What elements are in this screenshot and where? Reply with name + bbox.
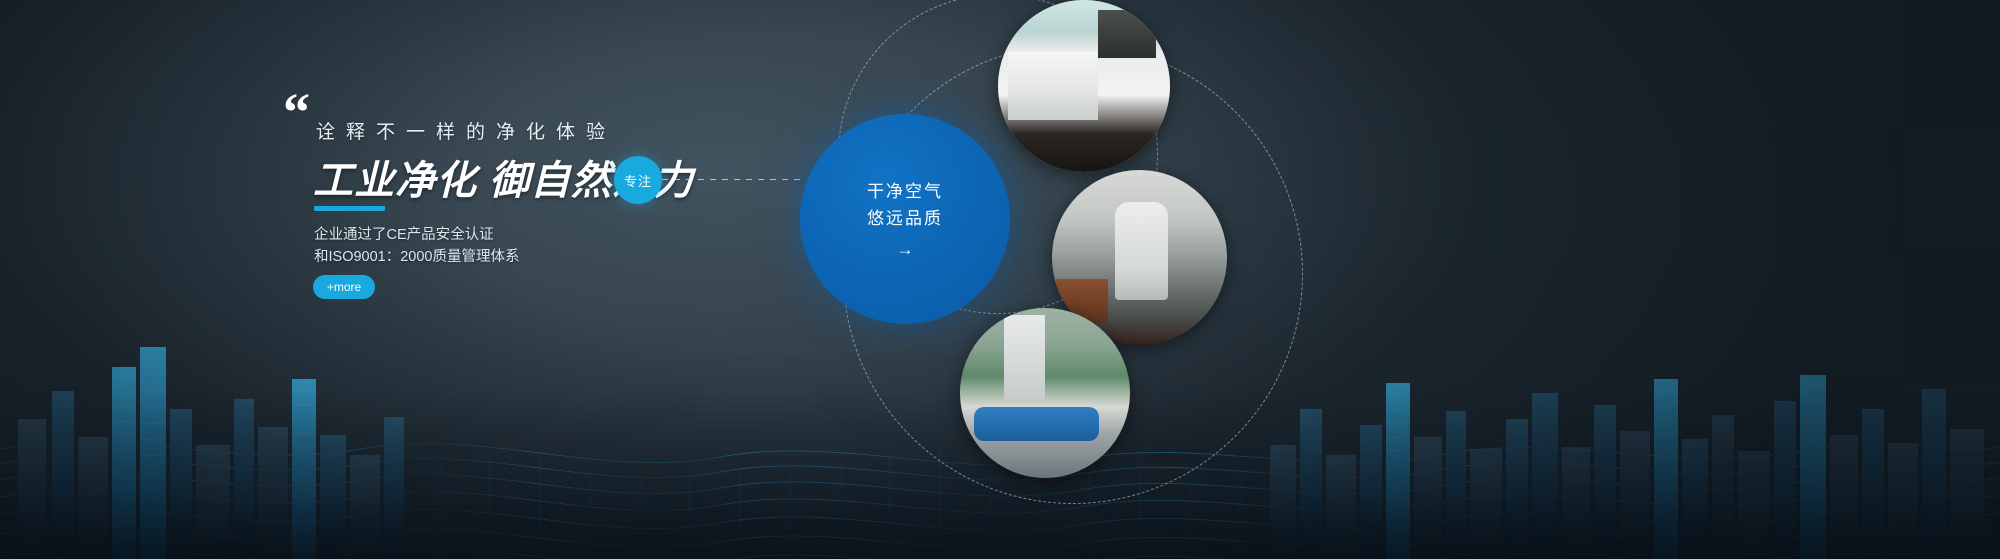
core-line-2: 悠远品质 [867, 205, 943, 232]
core-circle[interactable]: 干净空气 悠远品质 → [800, 114, 1010, 324]
pipeline-machinery-image [960, 308, 1130, 478]
dashed-connector-line [662, 179, 802, 180]
core-line-1: 干净空气 [867, 178, 943, 205]
hero-description: 企业通过了CE产品安全认证 和ISO9001：2000质量管理体系 [314, 224, 520, 268]
quote-mark-icon: “ [283, 92, 308, 132]
hero-banner: “ 诠释不一样的净化体验 工业净化 御自然之力 企业通过了CE产品安全认证 和I… [0, 0, 2000, 559]
hero-graphic: 专注 干净空气 悠远品质 → [590, 0, 1310, 559]
factory-interior-photo[interactable] [998, 0, 1170, 172]
accent-divider [314, 206, 385, 211]
hero-description-line-1: 企业通过了CE产品安全认证 [314, 224, 520, 246]
arrow-right-icon[interactable]: → [897, 240, 914, 260]
hero-description-line-2: 和ISO9001：2000质量管理体系 [314, 246, 520, 268]
focus-badge[interactable]: 专注 [614, 156, 662, 204]
hero-subtitle: 诠释不一样的净化体验 [316, 117, 616, 144]
pipeline-machinery-photo[interactable] [960, 308, 1130, 478]
more-button[interactable]: +more [313, 275, 375, 299]
factory-interior-image [998, 0, 1170, 172]
